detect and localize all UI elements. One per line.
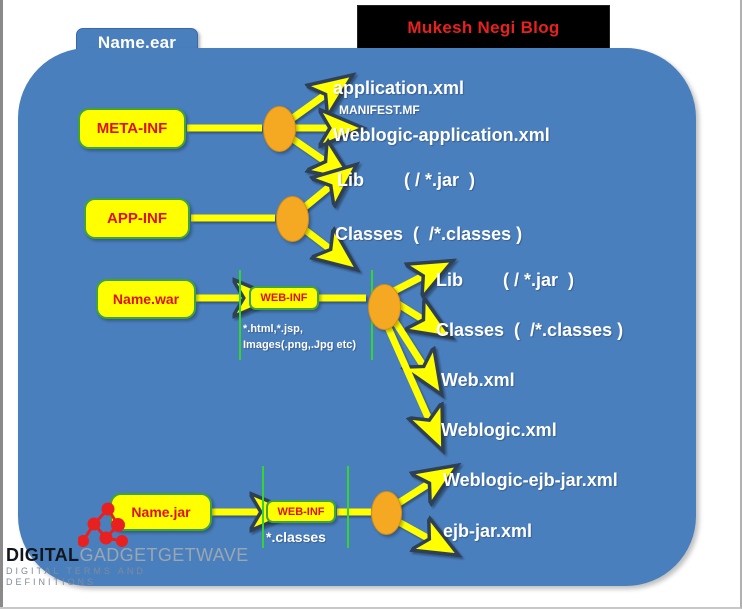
blog-banner: Mukesh Negi Blog: [357, 5, 610, 51]
jar-web-inf-note: *.classes: [266, 529, 326, 545]
label-ejb-jar-xml: ejb-jar.xml: [443, 521, 532, 542]
web-inf-rule-left-war: [239, 270, 241, 360]
web-inf-rule-left-jar: [262, 466, 264, 548]
box-app-inf[interactable]: APP-INF: [84, 198, 190, 239]
watermark-sub-line1: DIGITAL TERMS AND: [6, 567, 236, 576]
label-manifest-mf: MANIFEST.MF: [339, 103, 420, 117]
hub-jar: [371, 491, 402, 535]
label-weblogic-application-xml: Weblogic-application.xml: [333, 125, 550, 146]
label-web-xml: Web.xml: [441, 370, 515, 391]
hub-meta-inf: [263, 106, 296, 152]
label-weblogic-ejb-jar-xml: Weblogic-ejb-jar.xml: [443, 470, 618, 491]
box-name-war-label: Name.war: [113, 291, 179, 307]
box-app-inf-label: APP-INF: [107, 210, 167, 227]
box-meta-inf[interactable]: META-INF: [78, 108, 186, 149]
web-inf-rule-right-jar: [347, 466, 349, 548]
diagram-canvas: Mukesh Negi Blog Name.ear: [0, 0, 742, 609]
hub-war: [368, 284, 401, 330]
label-app-inf-classes: Classes ( /*.classes ): [335, 224, 522, 245]
hub-app-inf: [276, 196, 309, 242]
box-jar-web-inf-label: WEB-INF: [277, 506, 324, 518]
box-war-web-inf[interactable]: WEB-INF: [249, 286, 319, 310]
label-war-lib: Lib ( / *.jar ): [436, 270, 574, 291]
box-meta-inf-label: META-INF: [97, 120, 168, 137]
label-weblogic-xml: Weblogic.xml: [441, 420, 557, 441]
label-war-classes: Classes ( /*.classes ): [436, 320, 623, 341]
war-web-inf-note-line1: *.html,*.jsp,: [243, 322, 303, 336]
watermark-text: DIGITALGADGETGETWAVE DIGITAL TERMS AND D…: [6, 546, 236, 587]
watermark-brand-bold: DIGITAL: [6, 545, 79, 565]
box-war-web-inf-label: WEB-INF: [260, 292, 307, 304]
label-application-xml: application.xml: [333, 78, 464, 99]
label-app-inf-lib: Lib ( / *.jar ): [337, 170, 475, 191]
watermark-brand-light: GADGETGETWAVE: [79, 545, 248, 565]
war-web-inf-note-line2: Images(.png,.Jpg etc): [243, 338, 356, 352]
box-jar-web-inf[interactable]: WEB-INF: [266, 500, 336, 523]
blog-banner-title: Mukesh Negi Blog: [407, 18, 559, 38]
watermark-sub-line2: DEFINITIONS: [6, 578, 236, 587]
box-name-war[interactable]: Name.war: [96, 279, 196, 319]
